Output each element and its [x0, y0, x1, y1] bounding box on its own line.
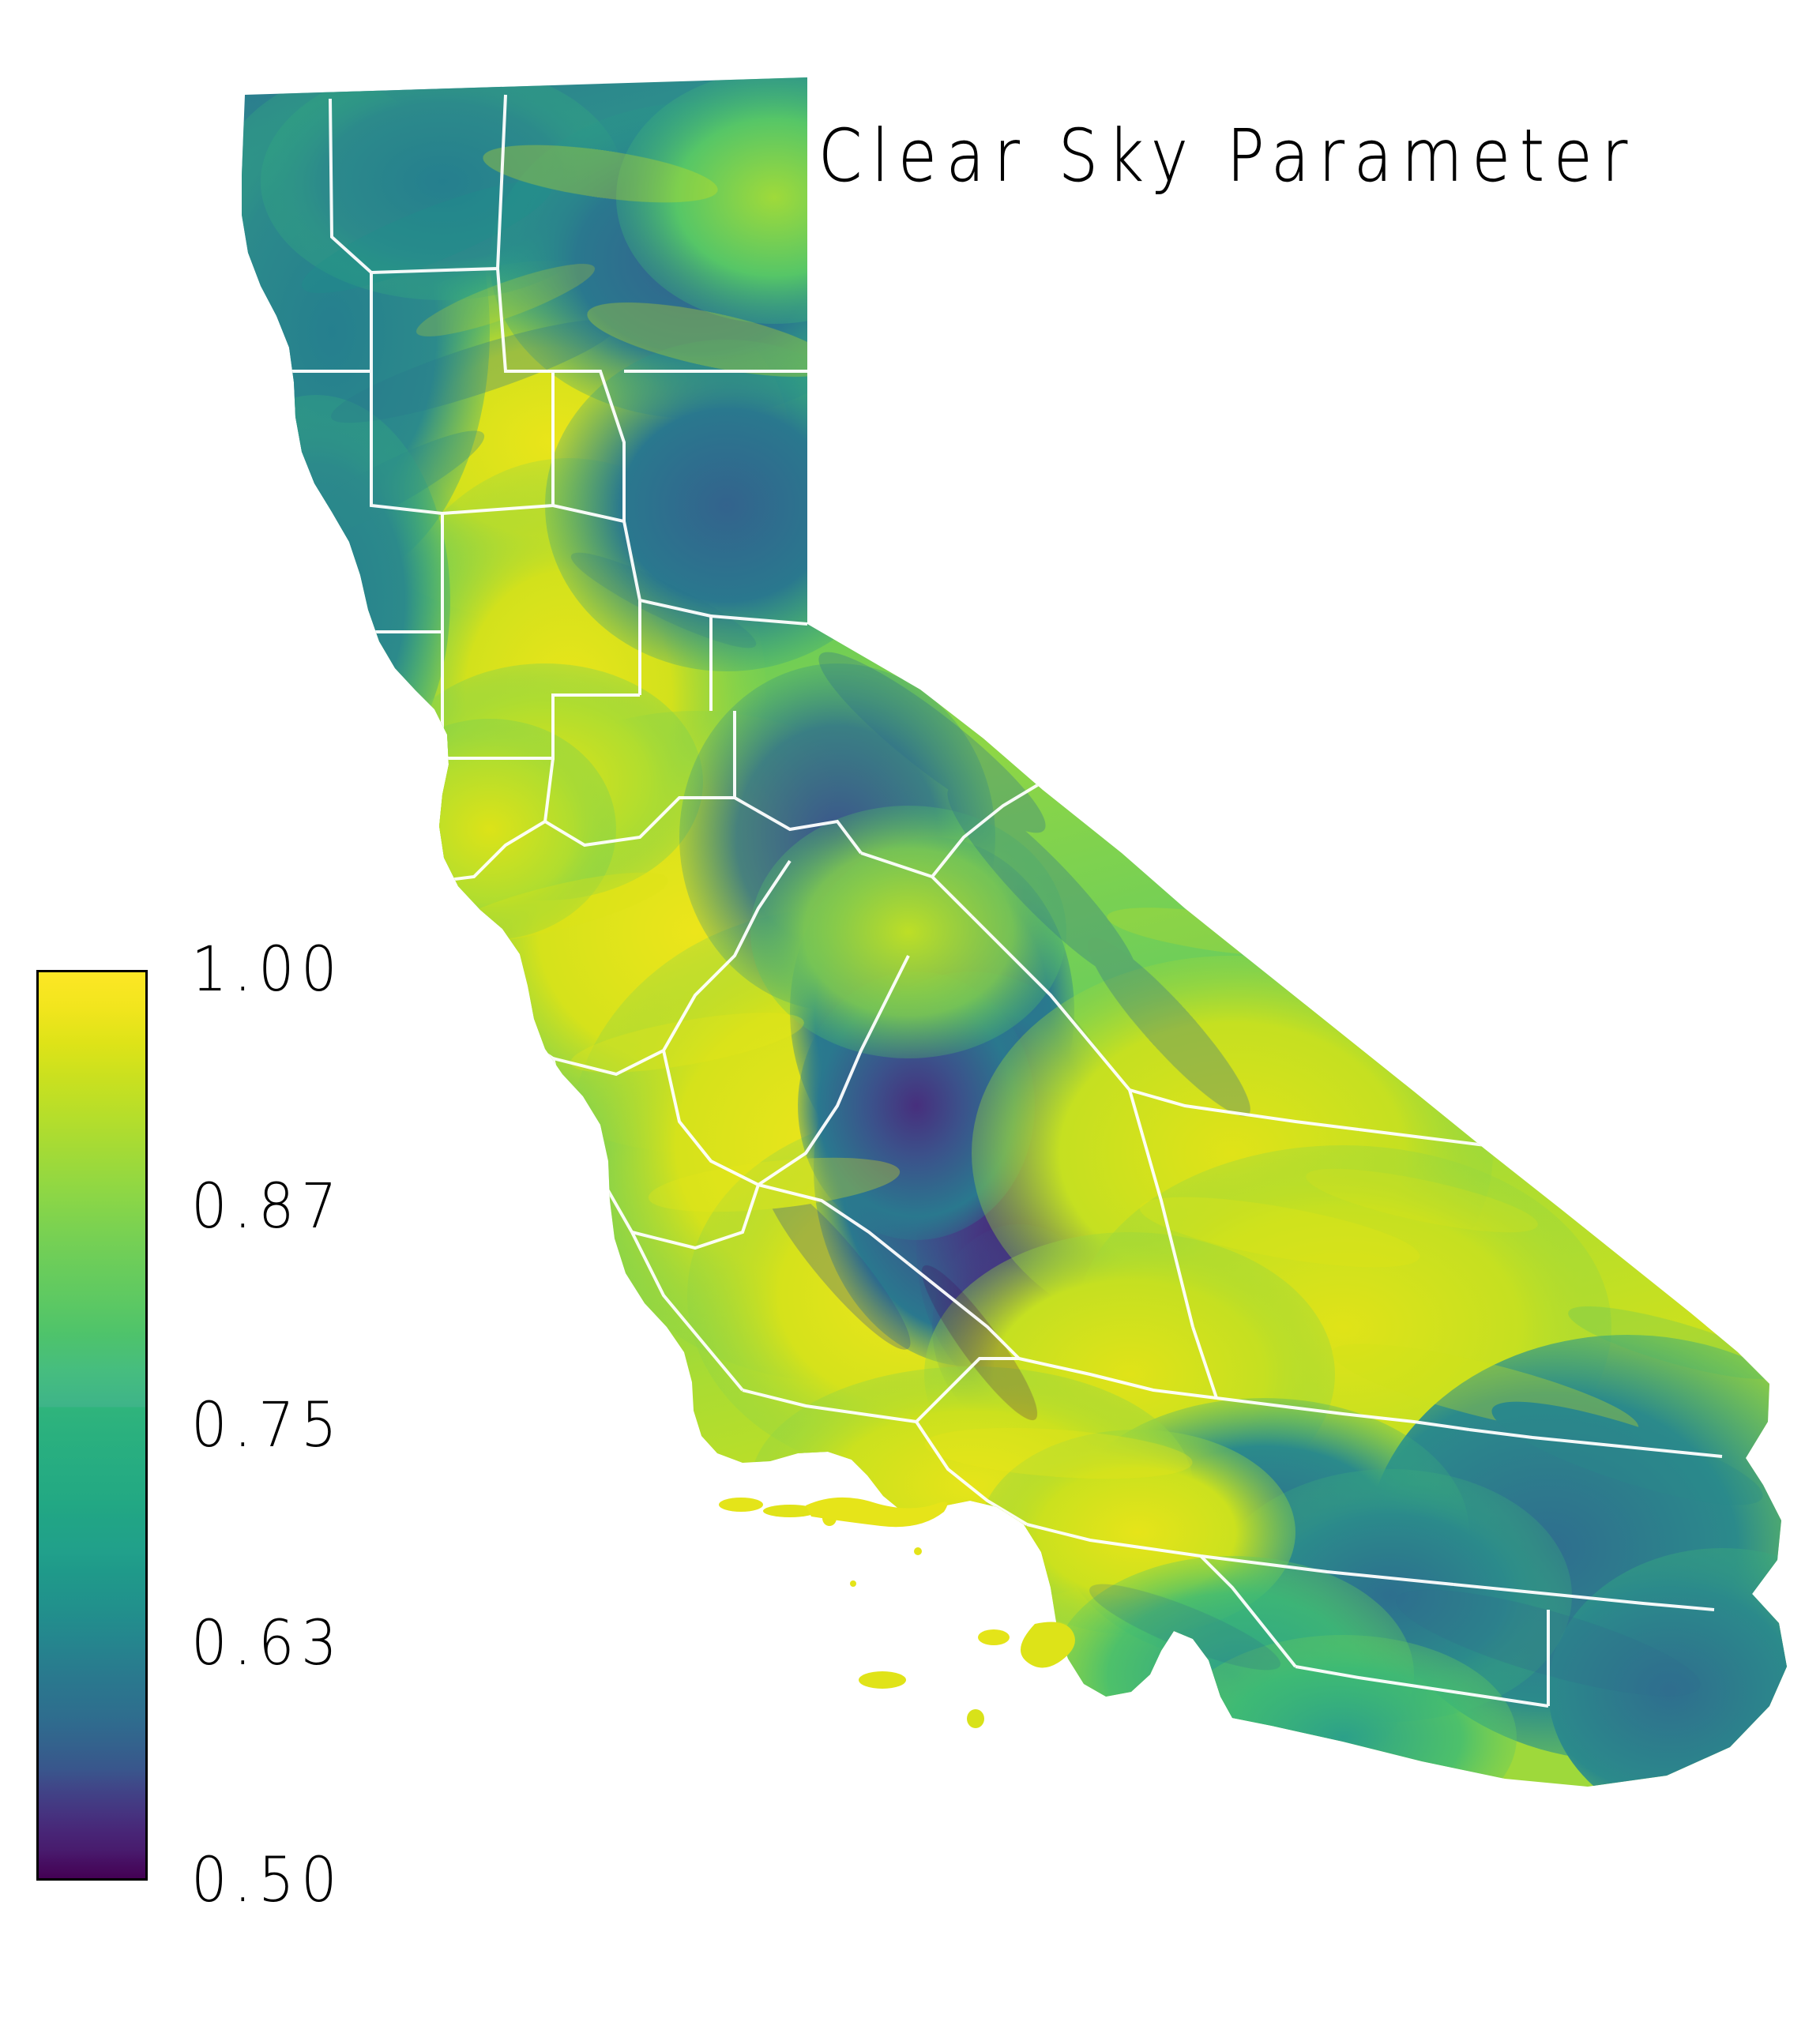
california-heatmap	[0, 0, 1820, 2022]
colorbar-gradient	[36, 970, 148, 1881]
channel-islands	[719, 1498, 1075, 1728]
colorbar-tick-0-87: 0.87	[191, 1176, 344, 1238]
page-title: Clear Sky Parameter	[818, 120, 1637, 192]
raster-field	[174, 63, 1820, 1840]
map-svg	[0, 0, 1820, 2022]
colorbar-tick-0-63: 0.63	[191, 1613, 344, 1674]
colorbar[interactable]: 1.00 0.87 0.75 0.63 0.50	[36, 970, 148, 1881]
colorbar-tick-1-00: 1.00	[191, 939, 344, 1001]
colorbar-tick-0-75: 0.75	[191, 1395, 344, 1456]
figure-canvas: Clear Sky Parameter 1.00 0.87 0.75 0.63 …	[0, 0, 1820, 2022]
colorbar-tick-0-50: 0.50	[191, 1850, 344, 1911]
